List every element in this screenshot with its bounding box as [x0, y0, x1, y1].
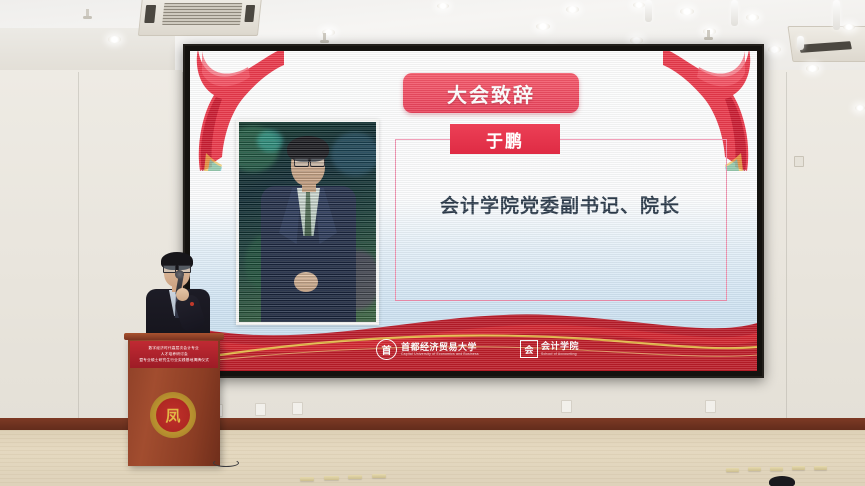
floor-item — [348, 475, 362, 479]
sprinkler-head — [707, 30, 710, 38]
foreground-head-silhouette — [769, 476, 795, 486]
wall-outlet[interactable] — [705, 400, 716, 413]
university-logo: 首 首都经济贸易大学 Capital University of Economi… — [376, 339, 479, 360]
floor-item — [792, 466, 805, 470]
ceiling-downlight — [536, 23, 550, 30]
floor-item — [770, 467, 783, 471]
university-logo-mark: 首 — [376, 339, 397, 360]
ceiling-downlight — [566, 6, 579, 13]
ceiling-downlight — [437, 3, 449, 9]
wall-outlet[interactable] — [255, 403, 266, 416]
ac-cassette-left — [138, 0, 262, 36]
speaker-name-badge: 于鹏 — [450, 124, 560, 154]
slide-title-badge: 大会致辞 — [403, 73, 579, 113]
conference-hall-scene: 大会致辞 于鹏 会计学院党委副书记、院长 — [0, 0, 865, 486]
podium-top-surface — [124, 333, 224, 340]
content-frame-outline — [395, 139, 727, 301]
pendant-light — [731, 0, 738, 26]
led-screen-display: 大会致辞 于鹏 会计学院党委副书记、院长 — [190, 51, 757, 371]
pendant-light — [797, 36, 804, 50]
floor-item — [324, 476, 339, 480]
ceiling-downlight — [843, 24, 855, 30]
accounting-school-logo-subtext: School of Accounting — [541, 352, 579, 356]
microphone-head — [175, 270, 184, 279]
ceiling-downlight — [633, 2, 645, 8]
speaker-hand — [176, 288, 189, 301]
ceiling-downlight — [108, 36, 121, 43]
floor-item — [748, 467, 761, 471]
university-logo-text: 首都经济贸易大学 — [401, 343, 479, 352]
wall-panel-seam — [78, 72, 79, 422]
floor-item — [814, 466, 827, 470]
ac-louver — [799, 41, 852, 53]
ac-side-vent — [144, 5, 156, 23]
speaker-role-text: 会计学院党委副书记、院长 — [395, 191, 725, 218]
portrait-led-scanlines — [239, 122, 376, 322]
speaker-name-text: 于鹏 — [486, 127, 524, 152]
accounting-school-logo-text: 会计学院 — [541, 342, 579, 351]
wall-outlet[interactable] — [561, 400, 572, 413]
lapel-pin — [190, 302, 194, 306]
wall-switch-plate[interactable] — [794, 156, 804, 167]
ac-louver — [162, 3, 242, 25]
floor-item — [300, 477, 314, 481]
speaker-glasses-lens — [163, 265, 176, 273]
wall-panel-seam — [786, 72, 787, 422]
sprinkler-head — [86, 9, 89, 17]
university-emblem-glyph: 凤 — [156, 398, 190, 432]
slide-footer-logos: 首 首都经济贸易大学 Capital University of Economi… — [190, 339, 757, 365]
ceiling-downlight — [630, 37, 643, 44]
accounting-school-logo-mark: 会 — [520, 340, 538, 358]
ceiling-downlight — [855, 105, 865, 111]
ceiling-downlight — [746, 14, 759, 21]
wall-outlet[interactable] — [292, 402, 303, 415]
podium-banner: 数字经济时代高层次会计专业 人才培养研讨会 暨专业硕士研究生行业实践基地揭牌仪式 — [130, 341, 218, 368]
portrait-image — [239, 122, 376, 322]
pendant-light — [833, 0, 840, 30]
ceiling-downlight — [806, 65, 819, 72]
sprinkler-head — [323, 33, 326, 41]
podium-banner-line-2: 人才培养研讨会 — [160, 352, 187, 357]
podium-banner-line-3: 暨专业硕士研究生行业实践基地揭牌仪式 — [139, 358, 209, 363]
university-logo-subtext: Capital University of Economics and Busi… — [401, 352, 479, 356]
speaker-person — [142, 252, 214, 344]
floor-cable — [213, 459, 239, 467]
accounting-school-logo: 会 会计学院 School of Accounting — [520, 340, 579, 358]
ac-side-vent — [244, 5, 255, 22]
podium-banner-line-1: 数字经济时代高层次会计专业 — [149, 346, 199, 351]
ceiling-downlight — [680, 8, 694, 15]
pendant-light — [645, 0, 652, 22]
ceiling-downlight — [768, 46, 781, 53]
led-screen-frame: 大会致辞 于鹏 会计学院党委副书记、院长 — [183, 44, 764, 378]
slide-title-text: 大会致辞 — [447, 79, 535, 108]
floor-item — [372, 474, 386, 478]
university-emblem: 凤 — [150, 392, 196, 438]
floor-item — [726, 468, 739, 472]
